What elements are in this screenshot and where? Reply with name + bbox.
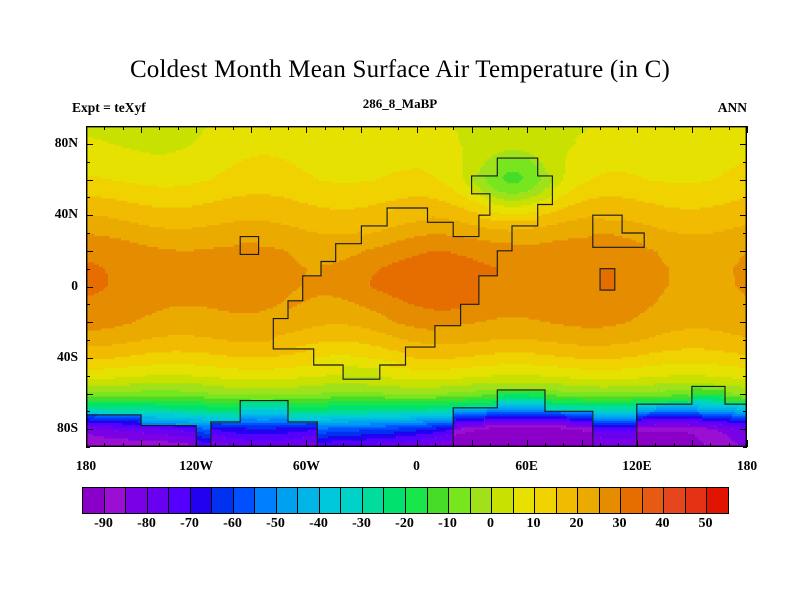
tick-mark <box>86 394 93 395</box>
tick-mark <box>490 443 491 447</box>
tick-mark <box>86 126 90 127</box>
tick-mark <box>196 440 197 447</box>
colorbar-cell-14[interactable] <box>384 488 406 513</box>
colorbar-cell-9[interactable] <box>277 488 299 513</box>
tick-mark <box>196 126 197 133</box>
tick-mark <box>325 126 326 130</box>
colorbar-cell-26[interactable] <box>643 488 665 513</box>
tick-mark <box>86 429 93 430</box>
tick-mark <box>123 126 124 130</box>
tick-mark <box>343 443 344 447</box>
colorbar-cell-18[interactable] <box>471 488 493 513</box>
tick-mark <box>508 126 509 130</box>
colorbar-cell-29[interactable] <box>707 488 728 513</box>
tick-mark <box>380 126 381 130</box>
tick-mark <box>674 443 675 447</box>
tick-mark <box>472 440 473 447</box>
tick-mark <box>655 126 656 130</box>
tick-mark <box>86 287 93 288</box>
tick-mark <box>288 443 289 447</box>
colorbar-cell-20[interactable] <box>514 488 536 513</box>
tick-mark <box>270 443 271 447</box>
tick-mark <box>600 126 601 130</box>
colorbar-cell-19[interactable] <box>492 488 514 513</box>
period-label: ANN <box>0 100 747 116</box>
tick-mark <box>740 144 747 145</box>
tick-mark <box>417 440 418 447</box>
colorbar-cell-10[interactable] <box>298 488 320 513</box>
colorbar-cell-13[interactable] <box>363 488 385 513</box>
tick-mark <box>86 144 93 145</box>
tick-mark <box>743 411 747 412</box>
tick-mark <box>215 443 216 447</box>
tick-mark <box>743 269 747 270</box>
tick-mark <box>86 197 90 198</box>
colorbar-cell-5[interactable] <box>191 488 213 513</box>
tick-mark <box>743 197 747 198</box>
tick-mark <box>86 233 90 234</box>
tick-mark <box>618 126 619 130</box>
tick-mark <box>740 322 747 323</box>
tick-mark <box>141 126 142 133</box>
tick-mark <box>740 215 747 216</box>
tick-mark <box>86 251 93 252</box>
tick-mark <box>380 443 381 447</box>
tick-mark <box>692 126 693 133</box>
tick-mark <box>86 180 93 181</box>
tick-mark <box>159 126 160 130</box>
tick-mark <box>618 443 619 447</box>
tick-mark <box>215 126 216 130</box>
tick-mark <box>692 440 693 447</box>
tick-mark <box>453 126 454 130</box>
figure-root: Coldest Month Mean Surface Air Temperatu… <box>0 0 800 600</box>
tick-mark <box>743 126 747 127</box>
colorbar-cell-6[interactable] <box>212 488 234 513</box>
tick-mark <box>729 126 730 130</box>
tick-mark <box>472 126 473 133</box>
x-axis-tick-label-3: 0 <box>382 458 452 474</box>
colorbar[interactable] <box>82 487 729 514</box>
tick-mark <box>508 443 509 447</box>
tick-mark <box>251 126 252 133</box>
tick-mark <box>104 443 105 447</box>
tick-mark <box>600 443 601 447</box>
y-axis-tick-label-3: 40S <box>32 349 78 365</box>
colorbar-cell-7[interactable] <box>234 488 256 513</box>
tick-mark <box>178 126 179 130</box>
colorbar-cell-25[interactable] <box>621 488 643 513</box>
colorbar-cell-22[interactable] <box>557 488 579 513</box>
colorbar-cell-0[interactable] <box>83 488 105 513</box>
tick-mark <box>740 429 747 430</box>
tick-mark <box>178 443 179 447</box>
tick-mark <box>398 126 399 130</box>
y-axis-tick-label-0: 80N <box>32 135 78 151</box>
tick-mark <box>86 411 90 412</box>
tick-mark <box>710 443 711 447</box>
x-axis-tick-label-1: 120W <box>161 458 231 474</box>
tick-mark <box>740 251 747 252</box>
tick-mark <box>655 443 656 447</box>
tick-mark <box>740 394 747 395</box>
tick-mark <box>740 358 747 359</box>
tick-mark <box>141 440 142 447</box>
tick-mark <box>417 126 418 133</box>
colorbar-cell-27[interactable] <box>664 488 686 513</box>
colorbar-cell-28[interactable] <box>686 488 708 513</box>
tick-mark <box>527 126 528 133</box>
colorbar-cell-21[interactable] <box>535 488 557 513</box>
x-axis-tick-label-4: 60E <box>492 458 562 474</box>
tick-mark <box>159 443 160 447</box>
tick-mark <box>674 126 675 130</box>
colorbar-cell-11[interactable] <box>320 488 342 513</box>
tick-mark <box>86 162 90 163</box>
colorbar-cell-8[interactable] <box>255 488 277 513</box>
colorbar-cell-12[interactable] <box>341 488 363 513</box>
colorbar-cell-16[interactable] <box>428 488 450 513</box>
tick-mark <box>233 443 234 447</box>
tick-mark <box>747 440 748 447</box>
tick-mark <box>288 126 289 130</box>
tick-mark <box>86 440 87 447</box>
tick-mark <box>306 440 307 447</box>
tick-mark <box>743 340 747 341</box>
tick-mark <box>361 440 362 447</box>
colorbar-cell-23[interactable] <box>578 488 600 513</box>
tick-mark <box>490 126 491 130</box>
tick-mark <box>251 440 252 447</box>
tick-mark <box>233 126 234 130</box>
colorbar-cell-15[interactable] <box>406 488 428 513</box>
x-axis-tick-label-6: 180 <box>712 458 782 474</box>
tick-mark <box>740 287 747 288</box>
x-axis-tick-label-5: 120E <box>602 458 672 474</box>
colorbar-cell-1[interactable] <box>105 488 127 513</box>
tick-mark <box>743 304 747 305</box>
tick-mark <box>361 126 362 133</box>
tick-mark <box>743 162 747 163</box>
tick-mark <box>563 126 564 130</box>
page-title: Coldest Month Mean Surface Air Temperatu… <box>0 56 800 84</box>
tick-mark <box>86 447 90 448</box>
y-axis-tick-label-2: 0 <box>32 278 78 294</box>
tick-mark <box>545 126 546 130</box>
tick-mark <box>86 304 90 305</box>
colorbar-tick-label-14: 50 <box>676 516 736 532</box>
tick-mark <box>582 126 583 133</box>
y-axis-tick-label-4: 80S <box>32 420 78 436</box>
tick-mark <box>563 443 564 447</box>
tick-mark <box>743 233 747 234</box>
tick-mark <box>86 269 90 270</box>
tick-mark <box>743 447 747 448</box>
colorbar-cell-3[interactable] <box>148 488 170 513</box>
tick-mark <box>86 215 93 216</box>
tick-mark <box>710 126 711 130</box>
tick-mark <box>740 180 747 181</box>
tick-mark <box>86 322 93 323</box>
tick-mark <box>582 440 583 447</box>
tick-mark <box>270 126 271 130</box>
tick-mark <box>306 126 307 133</box>
tick-mark <box>343 126 344 130</box>
tick-mark <box>453 443 454 447</box>
tick-mark <box>86 340 90 341</box>
tick-mark <box>123 443 124 447</box>
tick-mark <box>86 358 93 359</box>
tick-mark <box>527 440 528 447</box>
x-axis-tick-label-2: 60W <box>271 458 341 474</box>
map-plot-area <box>86 126 747 447</box>
colorbar-cell-2[interactable] <box>126 488 148 513</box>
tick-mark <box>325 443 326 447</box>
tick-mark <box>435 126 436 130</box>
tick-mark <box>104 126 105 130</box>
colorbar-cell-4[interactable] <box>169 488 191 513</box>
tick-mark <box>729 443 730 447</box>
tick-mark <box>86 376 90 377</box>
x-axis-tick-label-0: 180 <box>51 458 121 474</box>
colorbar-cell-17[interactable] <box>449 488 471 513</box>
tick-mark <box>545 443 546 447</box>
tick-mark <box>637 440 638 447</box>
tick-mark <box>743 376 747 377</box>
y-axis-tick-label-1: 40N <box>32 206 78 222</box>
tick-mark <box>637 126 638 133</box>
colorbar-cell-24[interactable] <box>600 488 622 513</box>
tick-mark <box>398 443 399 447</box>
tick-mark <box>747 126 748 133</box>
tick-mark <box>435 443 436 447</box>
